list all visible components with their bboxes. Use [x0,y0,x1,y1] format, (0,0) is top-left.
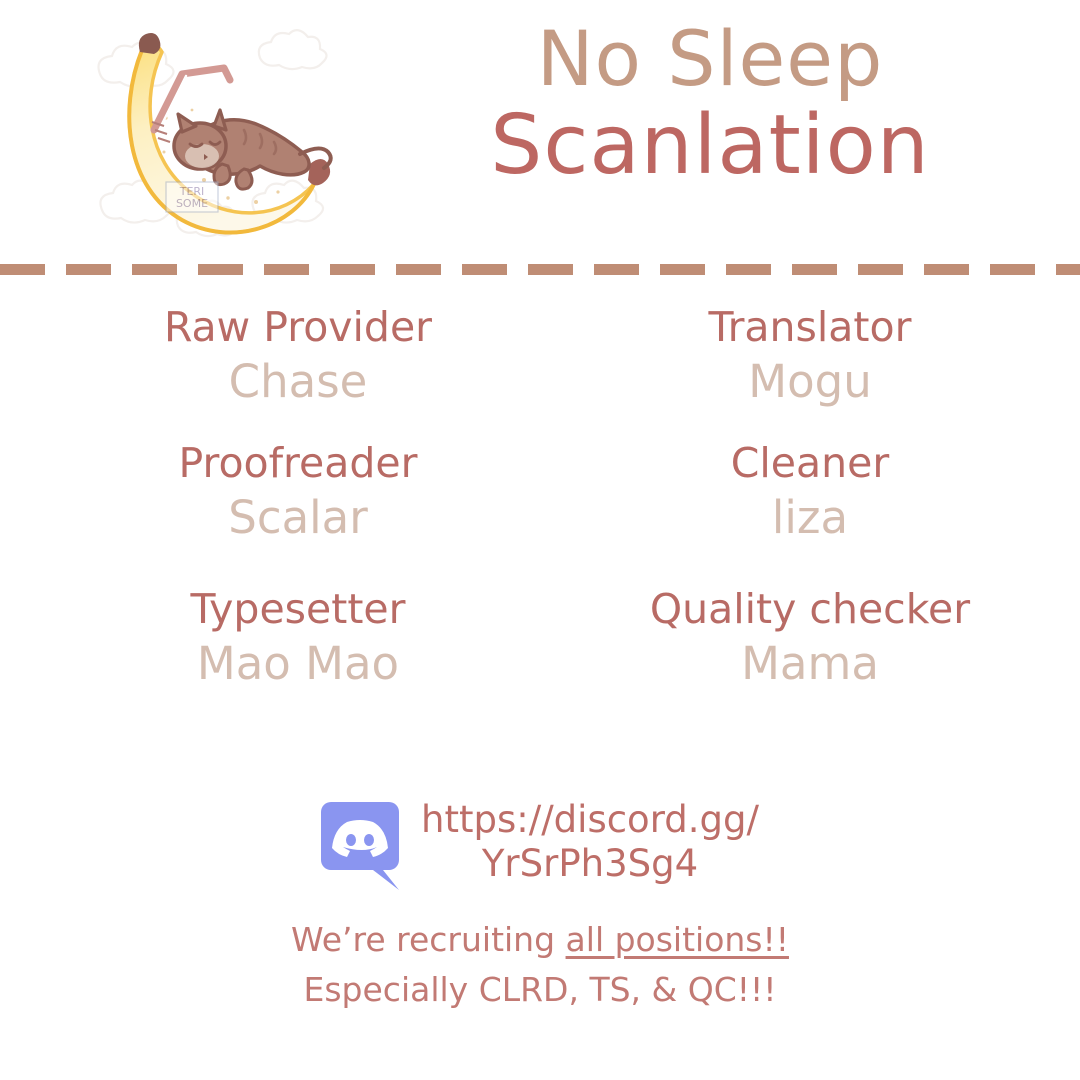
credit-person-name: Scalar [48,490,548,546]
credit-person-name: Mogu [560,354,1060,410]
page-title: No Sleep Scanlation [360,18,1060,190]
discord-invite-url[interactable]: https://discord.gg/ YrSrPh3Sg4 [421,798,759,886]
recruiting-line-1: We’re recruiting all positions!! [0,918,1080,962]
divider-dash [990,264,1035,275]
credit-person-name: Mama [560,636,1060,692]
credit-cleaner: Cleaner liza [560,438,1060,546]
divider-dash [462,264,507,275]
credit-role-label: Cleaner [560,438,1060,488]
discord-invite-block[interactable]: https://discord.gg/ YrSrPh3Sg4 [0,798,1080,890]
credit-person-name: liza [560,490,1060,546]
credit-role-label: Translator [560,302,1060,352]
divider-dash [0,264,45,275]
credit-translator: Translator Mogu [560,302,1060,410]
divider-dash [264,264,309,275]
credit-role-label: Quality checker [560,584,1060,634]
divider-dash [924,264,969,275]
divider-dash [396,264,441,275]
credit-raw-provider: Raw Provider Chase [48,302,548,410]
credit-quality-checker: Quality checker Mama [560,584,1060,692]
discord-logo-icon[interactable] [321,802,399,890]
divider-dash [1056,264,1080,275]
svg-text:SOME: SOME [176,197,208,210]
credit-proofreader: Proofreader Scalar [48,438,548,546]
divider-dash [132,264,177,275]
divider-dash [330,264,375,275]
credit-role-label: Raw Provider [48,302,548,352]
discord-url-line2: YrSrPh3Sg4 [421,842,759,886]
discord-url-line1: https://discord.gg/ [421,798,759,842]
divider-dash [528,264,573,275]
credit-person-name: Mao Mao [48,636,548,692]
credit-person-name: Chase [48,354,548,410]
credit-typesetter: Typesetter Mao Mao [48,584,548,692]
header: TERI SOME No Sleep Scanlation [0,0,1080,258]
title-line-scanlation: Scanlation [360,102,1060,190]
divider-dash [792,264,837,275]
recruiting-emphasis: all positions!! [566,920,789,959]
divider-dash [594,264,639,275]
sleeping-cat-on-banana-moon-icon: TERI SOME [78,14,364,254]
divider-dash [198,264,243,275]
credit-role-label: Proofreader [48,438,548,488]
dashed-divider [0,264,1080,275]
recruiting-line-2: Especially CLRD, TS, & QC!!! [0,968,1080,1012]
divider-dash [858,264,903,275]
recruiting-notice: We’re recruiting all positions!! Especia… [0,918,1080,1012]
divider-dash [66,264,111,275]
divider-dash [726,264,771,275]
recruiting-prefix: We’re recruiting [291,920,566,959]
credit-role-label: Typesetter [48,584,548,634]
credits-section: Raw Provider Chase Proofreader Scalar Ty… [0,302,1080,762]
divider-dash [660,264,705,275]
title-line-no-sleep: No Sleep [360,18,1060,100]
